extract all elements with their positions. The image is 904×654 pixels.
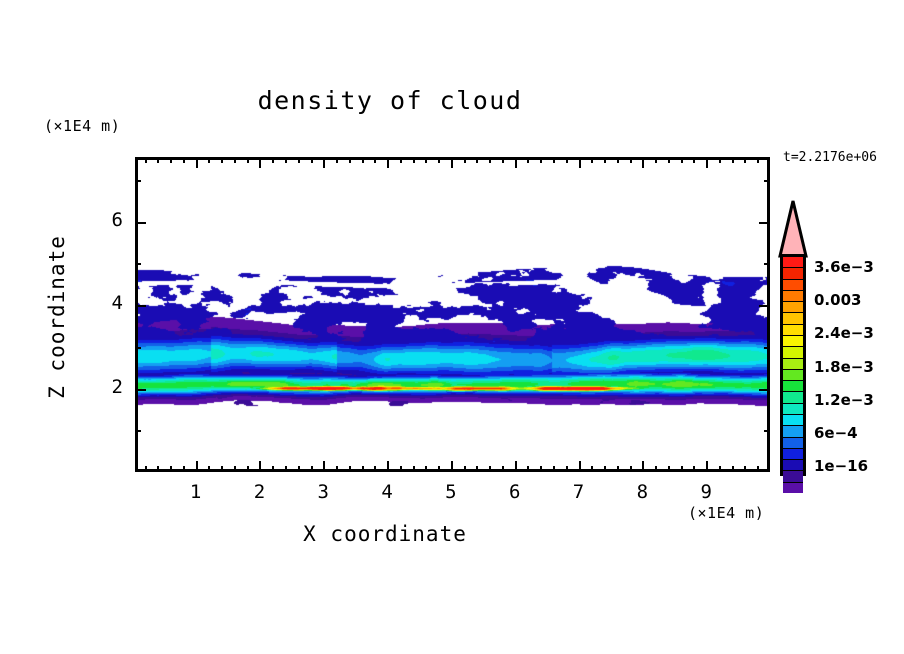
axis-tick: [349, 157, 351, 163]
axis-tick: [744, 466, 746, 472]
colorbar-tick-label: 3.6e−3: [814, 258, 874, 276]
axis-tick: [681, 466, 683, 472]
axis-tick: [400, 466, 402, 472]
axis-tick: [759, 305, 770, 307]
axis-tick: [476, 157, 478, 163]
colorbar-band: [783, 268, 803, 279]
colorbar-band: [783, 347, 803, 358]
axis-tick: [336, 157, 338, 163]
x-tick-label: 6: [495, 481, 535, 503]
x-tick-label: 1: [176, 481, 216, 503]
axis-tick: [387, 157, 389, 168]
axis-tick: [362, 466, 364, 472]
axis-tick: [579, 157, 581, 168]
axis-tick: [655, 466, 657, 472]
axis-tick: [272, 157, 274, 163]
axis-tick: [413, 466, 415, 472]
axis-tick: [655, 157, 657, 163]
axis-tick: [135, 305, 146, 307]
axis-tick: [208, 466, 210, 472]
colorbar-tick-label: 2.4e−3: [814, 324, 874, 342]
colorbar-tick-label: 0.003: [814, 291, 861, 309]
axis-tick: [476, 466, 478, 472]
colorbar-band: [783, 381, 803, 392]
colorbar-band: [783, 392, 803, 403]
axis-tick: [681, 157, 683, 163]
axis-tick: [157, 466, 159, 472]
axis-tick: [604, 157, 606, 163]
colorbar-tick-label: 6e−4: [814, 424, 858, 442]
y-tick-label: 4: [89, 292, 123, 314]
axis-tick: [374, 466, 376, 472]
axis-tick: [502, 157, 504, 163]
axis-tick: [515, 461, 517, 472]
page-title: density of cloud: [0, 86, 780, 115]
timestamp-annotation: t=2.2176e+06: [783, 150, 877, 165]
y-tick-label: 6: [89, 209, 123, 231]
colorbar-band: [783, 280, 803, 291]
axis-tick: [604, 466, 606, 472]
axis-tick: [642, 461, 644, 472]
axis-tick: [764, 180, 770, 182]
axis-tick: [515, 157, 517, 168]
axis-tick: [489, 466, 491, 472]
y-tick-label: 2: [89, 376, 123, 398]
axis-tick: [591, 157, 593, 163]
axis-tick: [540, 466, 542, 472]
x-tick-label: 9: [686, 481, 726, 503]
axis-tick: [221, 466, 223, 472]
x-tick-label: 2: [239, 481, 279, 503]
axis-tick: [234, 466, 236, 472]
axis-tick: [298, 157, 300, 163]
axis-tick: [135, 222, 146, 224]
colorbar-bands: [780, 254, 806, 476]
axis-tick: [438, 157, 440, 163]
colorbar: [776, 198, 810, 480]
axis-tick: [183, 466, 185, 472]
axis-tick: [540, 157, 542, 163]
axis-tick: [489, 157, 491, 163]
axis-tick: [759, 389, 770, 391]
axis-tick: [135, 180, 141, 182]
axis-tick: [566, 466, 568, 472]
axis-tick: [451, 157, 453, 168]
axis-tick: [706, 461, 708, 472]
contour-field-canvas: [138, 160, 767, 469]
colorbar-band: [783, 404, 803, 415]
axis-tick: [157, 157, 159, 163]
x-tick-label: 3: [303, 481, 343, 503]
axis-tick: [196, 157, 198, 168]
colorbar-band: [783, 257, 803, 268]
axis-tick: [668, 157, 670, 163]
axis-tick: [374, 157, 376, 163]
axis-tick: [630, 466, 632, 472]
axis-tick: [135, 347, 141, 349]
axis-tick: [170, 157, 172, 163]
axis-tick: [579, 461, 581, 472]
y-axis-title: Z coordinate: [45, 217, 69, 417]
axis-tick: [183, 157, 185, 163]
axis-tick: [591, 466, 593, 472]
colorbar-band: [783, 471, 803, 482]
axis-tick: [170, 466, 172, 472]
axis-tick: [259, 461, 261, 472]
x-tick-label: 7: [559, 481, 599, 503]
colorbar-band: [783, 325, 803, 336]
axis-tick: [208, 157, 210, 163]
colorbar-tick-label: 1.8e−3: [814, 358, 874, 376]
x-axis-title: X coordinate: [0, 522, 770, 546]
colorbar-tick-label: 1.2e−3: [814, 391, 874, 409]
contour-plot-area: [135, 157, 770, 472]
colorbar-band: [783, 483, 803, 493]
axis-tick: [464, 157, 466, 163]
axis-tick: [438, 466, 440, 472]
axis-tick: [553, 466, 555, 472]
axis-tick: [464, 466, 466, 472]
axis-tick: [135, 263, 141, 265]
axis-tick: [553, 157, 555, 163]
colorbar-band: [783, 291, 803, 302]
axis-tick: [387, 461, 389, 472]
colorbar-band: [783, 370, 803, 381]
axis-tick: [566, 157, 568, 163]
axis-tick: [617, 466, 619, 472]
axis-tick: [744, 157, 746, 163]
axis-tick: [400, 157, 402, 163]
y-axis-unit-label: (×1E4 m): [44, 117, 120, 135]
axis-tick: [617, 157, 619, 163]
axis-tick: [145, 157, 147, 163]
colorbar-tick-label: 1e−16: [814, 457, 868, 475]
axis-tick: [693, 466, 695, 472]
axis-tick: [311, 466, 313, 472]
colorbar-extend-arrow-icon: [776, 198, 810, 258]
axis-tick: [285, 466, 287, 472]
axis-tick: [527, 157, 529, 163]
axis-tick: [272, 466, 274, 472]
axis-tick: [732, 466, 734, 472]
x-axis-unit-label: (×1E4 m): [688, 504, 764, 522]
colorbar-band: [783, 336, 803, 347]
axis-tick: [719, 157, 721, 163]
axis-tick: [693, 157, 695, 163]
colorbar-band: [783, 313, 803, 324]
axis-tick: [630, 157, 632, 163]
axis-tick: [527, 466, 529, 472]
axis-tick: [145, 466, 147, 472]
axis-tick: [298, 466, 300, 472]
axis-tick: [413, 157, 415, 163]
axis-tick: [221, 157, 223, 163]
axis-tick: [502, 466, 504, 472]
axis-tick: [668, 466, 670, 472]
axis-tick: [247, 466, 249, 472]
colorbar-band: [783, 460, 803, 471]
x-tick-label: 8: [622, 481, 662, 503]
axis-tick: [764, 263, 770, 265]
axis-tick: [719, 466, 721, 472]
axis-tick: [425, 466, 427, 472]
axis-tick: [425, 157, 427, 163]
x-tick-label: 4: [367, 481, 407, 503]
axis-tick: [362, 157, 364, 163]
axis-tick: [759, 222, 770, 224]
axis-tick: [135, 389, 146, 391]
axis-tick: [732, 157, 734, 163]
axis-tick: [764, 430, 770, 432]
colorbar-band: [783, 359, 803, 370]
axis-tick: [323, 157, 325, 168]
axis-tick: [764, 347, 770, 349]
axis-tick: [757, 157, 759, 163]
axis-tick: [196, 461, 198, 472]
colorbar-band: [783, 449, 803, 460]
axis-tick: [642, 157, 644, 168]
colorbar-band: [783, 302, 803, 313]
colorbar-band: [783, 415, 803, 426]
axis-tick: [135, 430, 141, 432]
axis-tick: [706, 157, 708, 168]
colorbar-band: [783, 426, 803, 437]
axis-tick: [311, 157, 313, 163]
axis-tick: [234, 157, 236, 163]
axis-tick: [757, 466, 759, 472]
axis-tick: [247, 157, 249, 163]
axis-tick: [323, 461, 325, 472]
axis-tick: [259, 157, 261, 168]
axis-tick: [451, 461, 453, 472]
axis-tick: [349, 466, 351, 472]
colorbar-band: [783, 438, 803, 449]
x-tick-label: 5: [431, 481, 471, 503]
axis-tick: [285, 157, 287, 163]
axis-tick: [336, 466, 338, 472]
